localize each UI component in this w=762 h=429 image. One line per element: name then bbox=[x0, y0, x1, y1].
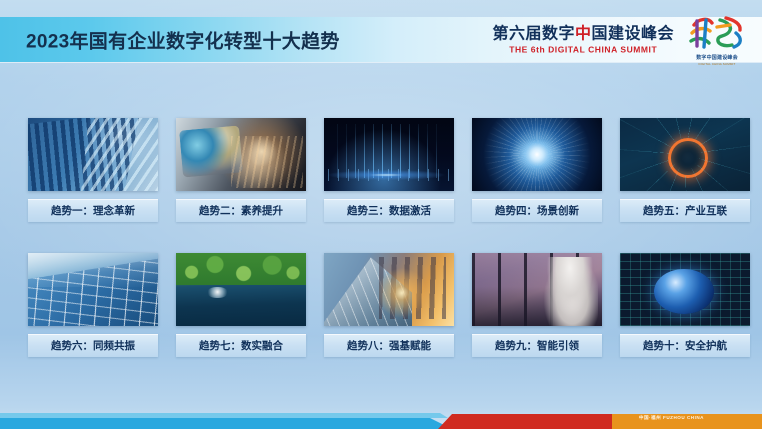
building-sunrise-image bbox=[324, 253, 454, 326]
trend-card-1[interactable]: 趋势一：理念革新 bbox=[28, 118, 158, 222]
summit-title-cn-accent: 中 bbox=[575, 25, 592, 42]
trend-card-7-photo bbox=[176, 253, 306, 326]
trend-card-1-photo bbox=[28, 118, 158, 191]
trend-card-9-caption: 趋势九：智能引领 bbox=[472, 334, 602, 357]
trend-card-10[interactable]: 趋势十：安全护航 bbox=[620, 253, 750, 357]
trend-card-8-caption: 趋势八：强基赋能 bbox=[324, 334, 454, 357]
trend-row-2: 趋势六：同频共振 趋势七：数实融合 趋势八：强基赋能 趋势九：智能引领 bbox=[28, 253, 734, 357]
trend-card-5-caption: 趋势五：产业互联 bbox=[620, 199, 750, 222]
summit-title-cn-part1: 第六届数字 bbox=[492, 25, 575, 42]
trend-card-9-photo bbox=[472, 253, 602, 326]
trend-card-8[interactable]: 趋势八：强基赋能 bbox=[324, 253, 454, 357]
summit-title-cn-part2: 国建设峰会 bbox=[591, 25, 674, 42]
slide-root: 2023年国有企业数字化转型十大趋势 第六届数字中国建设峰会 THE 6th D… bbox=[0, 0, 762, 429]
trend-card-3-caption: 趋势三：数据激活 bbox=[324, 199, 454, 222]
solar-panel-image bbox=[28, 253, 158, 326]
summit-logo-caption-cn: 数字中国建设峰会 bbox=[688, 56, 746, 61]
trend-card-2[interactable]: 趋势二：素养提升 bbox=[176, 118, 306, 222]
trend-card-1-caption: 趋势一：理念革新 bbox=[28, 199, 158, 222]
data-rain-image bbox=[324, 118, 454, 191]
forest-water-image bbox=[176, 253, 306, 326]
light-burst-network-image bbox=[472, 118, 602, 191]
trend-card-9[interactable]: 趋势九：智能引领 bbox=[472, 253, 602, 357]
footer-location-text: 中国·福州 FUZHOU CHINA bbox=[639, 416, 704, 421]
summit-logo-calligraphy-icon bbox=[684, 13, 750, 53]
trend-card-5[interactable]: 趋势五：产业互联 bbox=[620, 118, 750, 222]
trend-card-6[interactable]: 趋势六：同频共振 bbox=[28, 253, 158, 357]
trend-row-1: 趋势一：理念革新 趋势二：素养提升 趋势三：数据激活 趋势四：场景创新 bbox=[28, 118, 734, 222]
summit-logo-caption: 数字中国建设峰会 DIGITAL CHINA SUMMIT bbox=[688, 56, 746, 66]
trend-card-7[interactable]: 趋势七：数实融合 bbox=[176, 253, 306, 357]
summit-logo: 数字中国建设峰会 DIGITAL CHINA SUMMIT bbox=[684, 13, 750, 67]
trend-card-2-caption: 趋势二：素养提升 bbox=[176, 199, 306, 222]
trend-card-10-caption: 趋势十：安全护航 bbox=[620, 334, 750, 357]
trend-card-4-photo bbox=[472, 118, 602, 191]
summit-title-cn: 第六届数字中国建设峰会 bbox=[492, 26, 674, 42]
summit-branding: 第六届数字中国建设峰会 THE 6th DIGITAL CHINA SUMMIT bbox=[492, 26, 674, 54]
header-bar: 2023年国有企业数字化转型十大趋势 第六届数字中国建设峰会 THE 6th D… bbox=[0, 17, 762, 62]
trend-card-6-photo bbox=[28, 253, 158, 326]
trend-card-8-photo bbox=[324, 253, 454, 326]
footer-bar: 中国·福州 FUZHOU CHINA bbox=[0, 401, 762, 429]
iot-hub-image bbox=[620, 118, 750, 191]
trend-card-6-caption: 趋势六：同频共振 bbox=[28, 334, 158, 357]
trend-card-2-photo bbox=[176, 118, 306, 191]
trend-card-3-photo bbox=[324, 118, 454, 191]
trend-card-7-caption: 趋势七：数实融合 bbox=[176, 334, 306, 357]
summit-title-en: THE 6th DIGITAL CHINA SUMMIT bbox=[492, 45, 674, 54]
trend-card-4-caption: 趋势四：场景创新 bbox=[472, 199, 602, 222]
data-corridor-image bbox=[28, 118, 158, 191]
trend-card-grid: 趋势一：理念革新 趋势二：素养提升 趋势三：数据激活 趋势四：场景创新 bbox=[28, 118, 734, 357]
trend-card-4[interactable]: 趋势四：场景创新 bbox=[472, 118, 602, 222]
lab-instrument-image bbox=[176, 118, 306, 191]
trend-card-3[interactable]: 趋势三：数据激活 bbox=[324, 118, 454, 222]
summit-logo-caption-en: DIGITAL CHINA SUMMIT bbox=[688, 63, 746, 66]
trend-card-5-photo bbox=[620, 118, 750, 191]
page-title: 2023年国有企业数字化转型十大趋势 bbox=[26, 26, 340, 53]
security-globe-image bbox=[620, 253, 750, 326]
robot-window-image bbox=[472, 253, 602, 326]
trend-card-10-photo bbox=[620, 253, 750, 326]
